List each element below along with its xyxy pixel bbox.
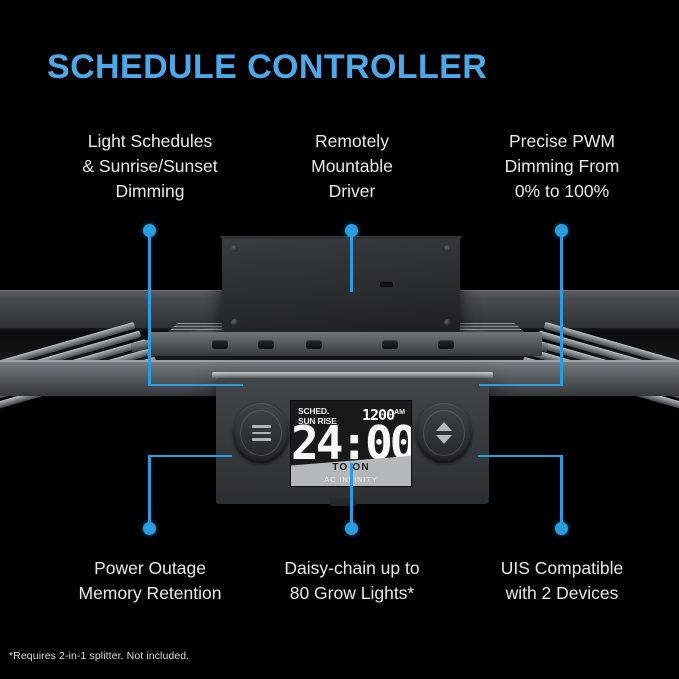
page-title: SCHEDULE CONTROLLER [47, 48, 487, 87]
menu-button[interactable] [233, 403, 289, 463]
callout-text-line: UIS Compatible [412, 556, 679, 581]
driver-top-cover [220, 236, 462, 239]
triangle-down-icon[interactable] [436, 435, 452, 444]
hamburger-menu-icon [240, 410, 282, 456]
triangle-up-icon[interactable] [436, 422, 452, 431]
updown-icon-group [423, 410, 465, 456]
callout-line-light-schedules-v [148, 230, 150, 386]
callout-text-line: 0% to 100% [412, 179, 679, 204]
callout-dot-daisy-chain [345, 522, 358, 535]
product-feature-graphic: SCHEDULE CONTROLLER [0, 0, 679, 679]
driver-module [222, 236, 460, 338]
callout-text-line: Dimming From [412, 154, 679, 179]
callout-dot-uis [555, 522, 568, 535]
callout-line-power-outage-h [148, 455, 232, 457]
callout-dot-power-outage [143, 522, 156, 535]
callout-line-daisy-chain-v [350, 463, 352, 528]
callout-line-uis-v [560, 455, 562, 529]
callout-line-remote-driver-v [350, 230, 352, 292]
callout-text-line: with 2 Devices [412, 581, 679, 606]
lcd-clock-meridiem: AM [394, 409, 405, 416]
callout-line-pwm-dimming-h [479, 384, 562, 386]
callout-line-pwm-dimming-v [560, 230, 562, 386]
callout-line-uis-h [478, 455, 562, 457]
callout-line-light-schedules-h [148, 384, 243, 386]
driver-status-led [380, 282, 393, 287]
footnote: *Requires 2-in-1 splitter. Not included. [9, 650, 189, 662]
updown-button[interactable] [416, 403, 472, 463]
mounting-plate [150, 332, 542, 356]
callout-label-uis-compatible: UIS Compatible with 2 Devices [412, 556, 679, 606]
product-photo: SCHED. SUN RISE 1200AM 24:00 TO ON AC IN… [0, 236, 679, 506]
callout-line-power-outage-v [148, 455, 150, 529]
callout-text-line: Precise PWM [412, 129, 679, 154]
callout-label-pwm-dimming: Precise PWM Dimming From 0% to 100% [412, 129, 679, 204]
